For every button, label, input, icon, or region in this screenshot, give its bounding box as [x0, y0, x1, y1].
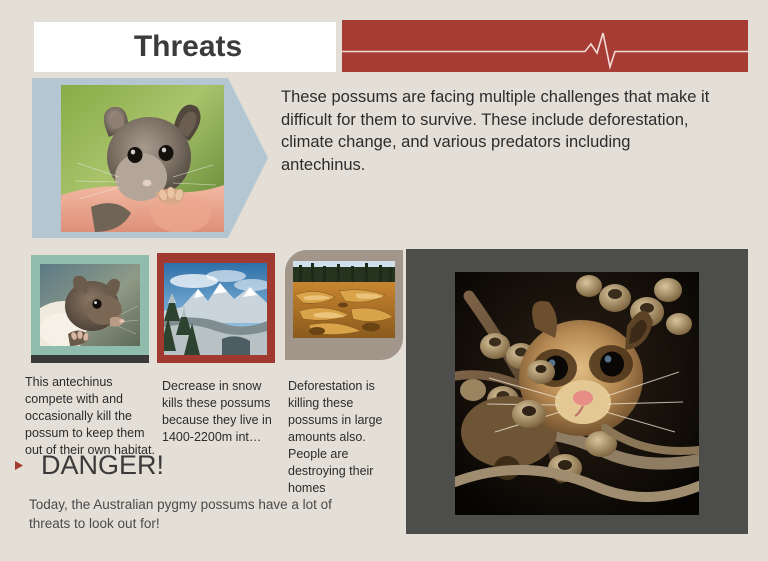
slide-canvas: Threats [0, 0, 768, 561]
thumbnail-deforestation [285, 250, 403, 360]
possum-branch-photo [455, 272, 699, 515]
slide-title-box: Threats [34, 22, 336, 72]
heartbeat-ekg-icon [342, 20, 748, 72]
pygmy-possum-in-hand-photo [61, 85, 224, 232]
closing-text: Today, the Australian pygmy possums have… [29, 495, 359, 533]
danger-label: DANGER! [41, 452, 164, 479]
triangle-bullet-glyph [14, 460, 25, 471]
antechinus-thumbnail [40, 264, 140, 346]
thumbnail-shadow-bar [31, 355, 149, 363]
triangle-bullet-icon [14, 460, 25, 471]
deforestation-photo [293, 261, 395, 338]
caption-deforestation: Deforestation is killing these possums i… [288, 378, 388, 497]
hero-image [61, 85, 224, 232]
antechinus-photo [40, 264, 140, 346]
snow-mountains-thumbnail [164, 263, 267, 355]
caption-snow: Decrease in snow kills these possums bec… [162, 378, 274, 446]
header-banner [342, 20, 748, 72]
page-title: Threats [128, 32, 242, 62]
pygmy-possum-on-branch-photo [455, 272, 699, 515]
deforestation-thumbnail [293, 261, 395, 338]
danger-bullet-row: DANGER! [14, 452, 164, 479]
hero-body-text: These possums are facing multiple challe… [281, 86, 713, 176]
thumbnail-antechinus [31, 255, 149, 355]
snow-mountains-photo [164, 263, 267, 355]
caption-antechinus: This antechinus compete with and occasio… [25, 374, 158, 459]
thumbnail-snow [157, 253, 275, 363]
